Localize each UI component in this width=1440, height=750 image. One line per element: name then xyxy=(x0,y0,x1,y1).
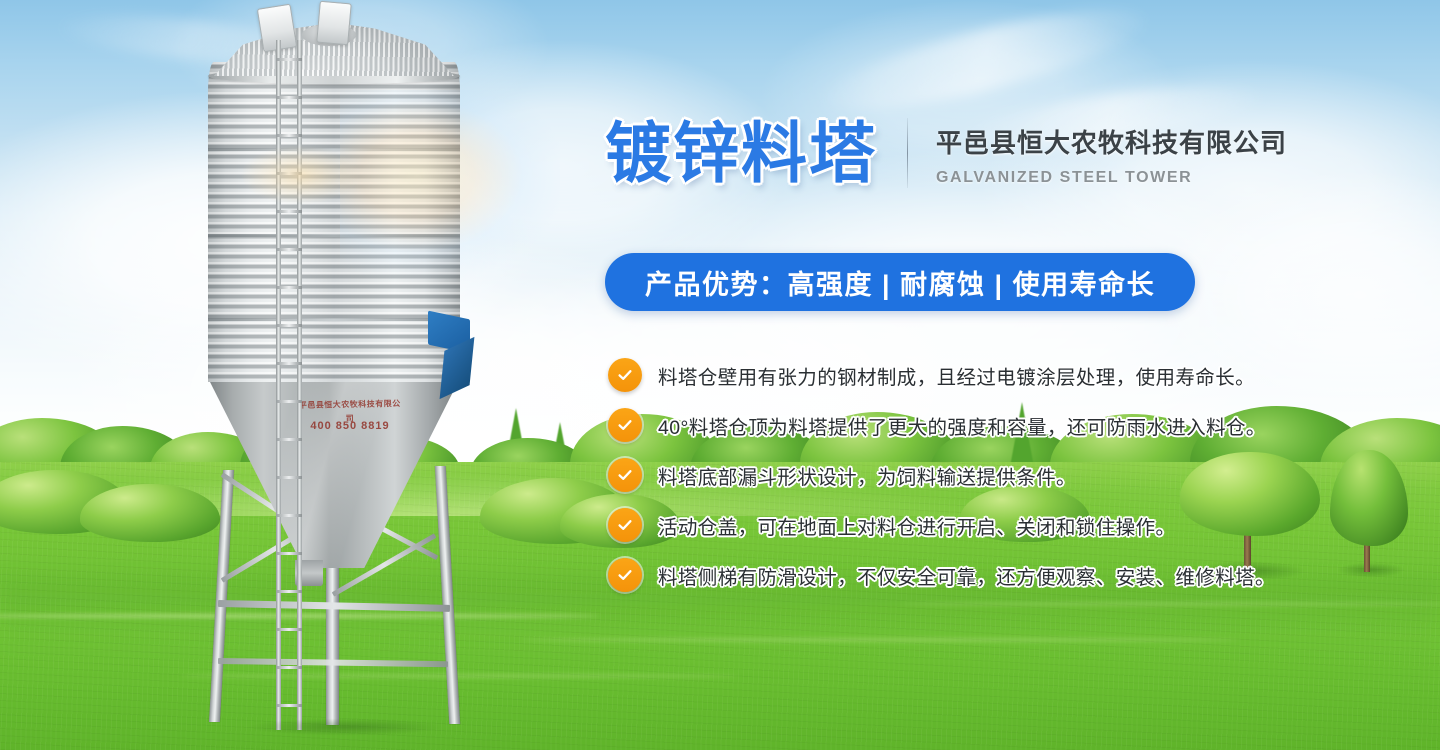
list-item: 40°料塔仓顶为料塔提供了更大的强度和容量，还可防雨水进入料仓。 xyxy=(608,408,1275,442)
check-circle-icon xyxy=(608,408,642,442)
feature-text: 活动仓盖，可在地面上对料仓进行开启、关闭和锁住操作。 xyxy=(658,511,1175,540)
feature-text: 料塔侧梯有防滑设计，不仅安全可靠，还方便观察、安装、维修料塔。 xyxy=(658,561,1275,590)
company-name-en: GALVANIZED STEEL TOWER xyxy=(936,169,1287,187)
list-item: 活动仓盖，可在地面上对料仓进行开启、关闭和锁住操作。 xyxy=(608,508,1275,542)
list-item: 料塔底部漏斗形状设计，为饲料输送提供条件。 xyxy=(608,458,1275,492)
feature-list: 料塔仓壁用有张力的钢材制成，且经过电镀涂层处理，使用寿命长。 40°料塔仓顶为料… xyxy=(608,358,1275,592)
list-item: 料塔侧梯有防滑设计，不仅安全可靠，还方便观察、安装、维修料塔。 xyxy=(608,558,1275,592)
title-divider xyxy=(907,118,908,188)
banner-content: 镀锌料塔 平邑县恒大农牧科技有限公司 GALVANIZED STEEL TOWE… xyxy=(0,0,1440,750)
product-banner: 平邑县恒大农牧科技有限公司 400 850 8819 xyxy=(0,0,1440,750)
list-item: 料塔仓壁用有张力的钢材制成，且经过电镀涂层处理，使用寿命长。 xyxy=(608,358,1275,392)
check-circle-icon xyxy=(608,508,642,542)
check-circle-icon xyxy=(608,358,642,392)
company-block: 平邑县恒大农牧科技有限公司 GALVANIZED STEEL TOWER xyxy=(936,119,1287,187)
advantage-pill-label: 产品优势：高强度 | 耐腐蚀 | 使用寿命长 xyxy=(645,263,1155,302)
advantage-pill: 产品优势：高强度 | 耐腐蚀 | 使用寿命长 xyxy=(605,253,1195,311)
feature-text: 料塔仓壁用有张力的钢材制成，且经过电镀涂层处理，使用寿命长。 xyxy=(658,361,1255,390)
headline-row: 镀锌料塔 平邑县恒大农牧科技有限公司 GALVANIZED STEEL TOWE… xyxy=(605,118,1287,188)
check-circle-icon xyxy=(608,458,642,492)
feature-text: 40°料塔仓顶为料塔提供了更大的强度和容量，还可防雨水进入料仓。 xyxy=(658,411,1266,440)
page-title: 镀锌料塔 xyxy=(605,120,877,186)
feature-text: 料塔底部漏斗形状设计，为饲料输送提供条件。 xyxy=(658,461,1076,490)
company-name-cn: 平邑县恒大农牧科技有限公司 xyxy=(936,123,1287,160)
check-circle-icon xyxy=(608,558,642,592)
